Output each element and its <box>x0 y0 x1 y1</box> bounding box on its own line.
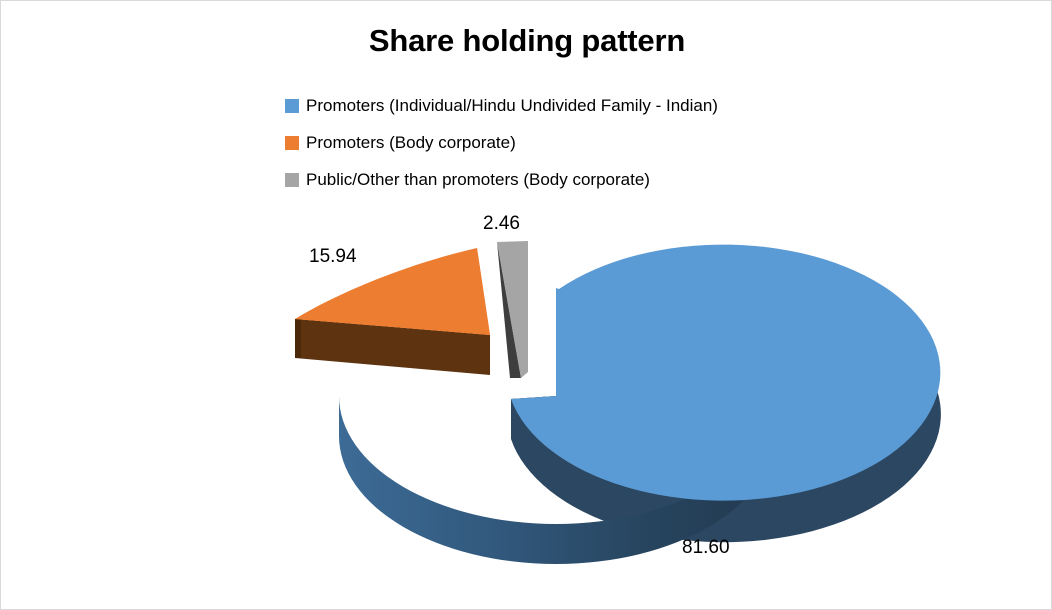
chart-canvas: Share holding pattern Promoters (Individ… <box>0 0 1052 610</box>
data-label-grey: 2.46 <box>483 213 520 235</box>
pie-svg <box>1 1 1052 610</box>
pie-slice-blue-top[interactable] <box>511 245 940 501</box>
data-label-blue: 81.60 <box>682 537 730 559</box>
pie-chart-graphic: 81.60 15.94 2.46 <box>1 1 1052 610</box>
data-label-orange: 15.94 <box>309 246 357 268</box>
